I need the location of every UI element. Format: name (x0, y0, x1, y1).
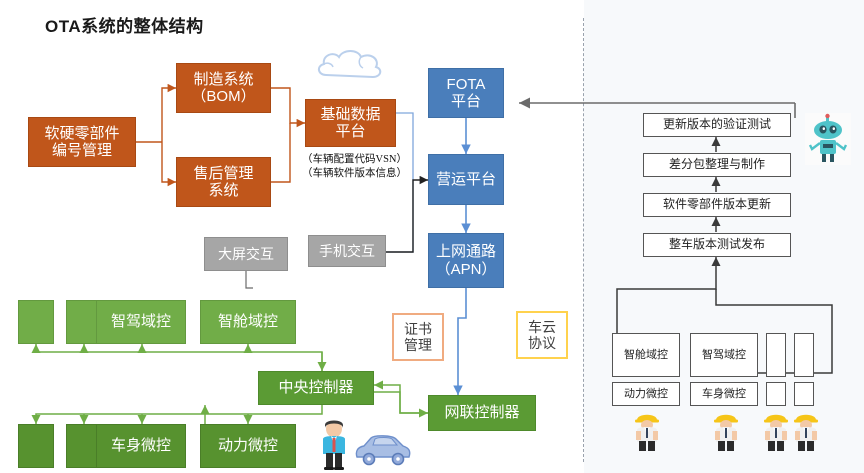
vertical-dashed-divider (583, 18, 584, 462)
cloud-icon (312, 48, 386, 86)
box-apn-network-path[interactable]: 上网通路 （APN） (428, 233, 504, 288)
box-basic-data-platform[interactable]: 基础数据 平台 (305, 99, 396, 147)
box-power-mcu[interactable]: 动力微控 (200, 424, 296, 468)
panel-ecu-cockpit-domain[interactable]: 智舱域控 (612, 333, 680, 377)
diagram-canvas: OTA系统的整体结构 (0, 0, 864, 473)
panel-ecu-power-mcu[interactable]: 动力微控 (612, 382, 680, 406)
box-operation-platform[interactable]: 营运平台 (428, 154, 504, 205)
box-phone-interaction[interactable]: 手机交互 (308, 235, 386, 267)
robot-icon (805, 113, 851, 165)
step-delta-package[interactable]: 差分包整理与制作 (643, 153, 791, 177)
box-telematics-controller[interactable]: 网联控制器 (428, 395, 536, 431)
engineer-icon-4 (792, 410, 820, 452)
box-fota-platform[interactable]: FOTA 平台 (428, 68, 504, 118)
box-blank-ecu-1[interactable] (18, 300, 54, 344)
box-blank-ecu-3[interactable] (18, 424, 54, 468)
car-icon (354, 432, 412, 466)
box-body-mcu[interactable]: 车身微控 (96, 424, 186, 468)
note-vehicle-config-codes: （车辆配置代码VSN） （车辆软件版本信息） (302, 153, 417, 181)
box-vehicle-cloud-protocol[interactable]: 车云 协议 (516, 311, 568, 359)
box-adas-domain-controller[interactable]: 智驾域控 (96, 300, 186, 344)
box-part-number-management[interactable]: 软硬零部件 编号管理 (28, 117, 136, 167)
box-certificate-management[interactable]: 证书 管理 (392, 313, 444, 361)
person-icon (318, 418, 350, 470)
panel-ecu-body-mcu[interactable]: 车身微控 (690, 382, 758, 406)
engineer-icon-1 (633, 410, 661, 452)
panel-ecu-blank-bottom-2[interactable] (794, 382, 814, 406)
box-big-screen-interaction[interactable]: 大屏交互 (204, 237, 288, 271)
panel-ecu-blank-top-1[interactable] (766, 333, 786, 377)
step-vehicle-version-release[interactable]: 整车版本测试发布 (643, 233, 791, 257)
page-title: OTA系统的整体结构 (45, 12, 204, 37)
panel-ecu-adas-domain[interactable]: 智驾域控 (690, 333, 758, 377)
engineer-icon-3 (762, 410, 790, 452)
step-software-part-version-update[interactable]: 软件零部件版本更新 (643, 193, 791, 217)
box-manufacturing-system[interactable]: 制造系统 （BOM） (176, 63, 271, 113)
box-central-controller[interactable]: 中央控制器 (258, 371, 374, 405)
panel-ecu-blank-top-2[interactable] (794, 333, 814, 377)
box-cockpit-domain-controller[interactable]: 智舱域控 (200, 300, 296, 344)
step-verification-test[interactable]: 更新版本的验证测试 (643, 113, 791, 137)
panel-ecu-blank-bottom-1[interactable] (766, 382, 786, 406)
engineer-icon-2 (712, 410, 740, 452)
box-aftersales-system[interactable]: 售后管理 系统 (176, 157, 271, 207)
